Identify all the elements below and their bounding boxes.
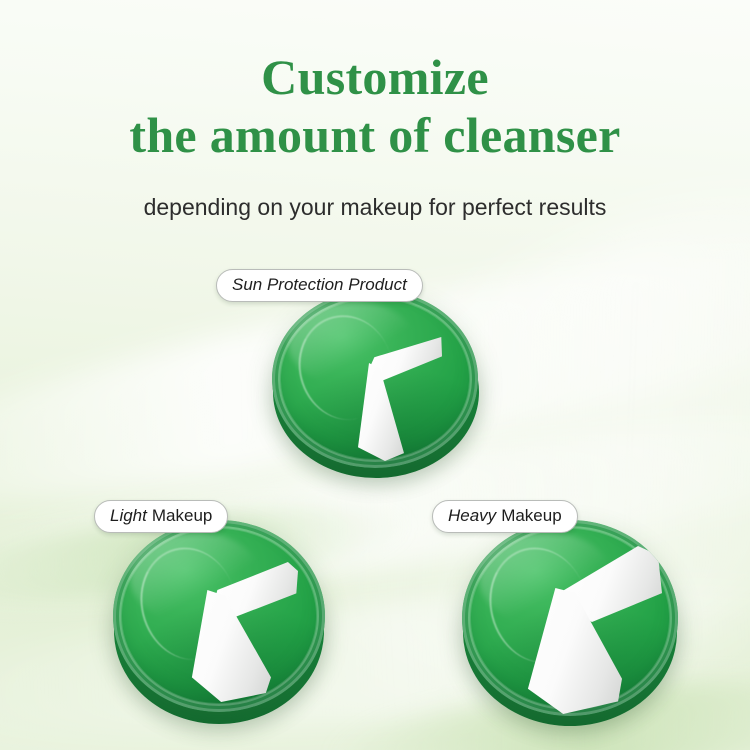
subtitle: depending on your makeup for perfect res… — [0, 192, 750, 222]
label-sun-protection-italic: Sun Protection Product — [232, 275, 407, 295]
promo-poster: Customize the amount of cleanser dependi… — [0, 0, 750, 750]
label-light-makeup-italic: Light — [110, 506, 147, 526]
headline-line-2: the amount of cleanser — [0, 106, 750, 164]
label-sun-protection: Sun Protection Product — [216, 269, 423, 302]
jar-heavy-makeup — [462, 520, 678, 716]
label-heavy-makeup-regular: Makeup — [501, 506, 561, 526]
label-light-makeup-regular: Makeup — [152, 506, 212, 526]
headline-line-1: Customize — [0, 48, 750, 106]
jar-group-light-makeup — [111, 518, 329, 750]
headline-block: Customize the amount of cleanser — [0, 48, 750, 164]
jar-sun-protection — [272, 290, 478, 468]
jar-group-sun-protection — [270, 288, 482, 478]
label-heavy-makeup: Heavy Makeup — [432, 500, 578, 533]
label-light-makeup: Light Makeup — [94, 500, 228, 533]
jar-light-makeup — [113, 520, 325, 712]
jar-group-heavy-makeup — [460, 518, 682, 750]
label-heavy-makeup-italic: Heavy — [448, 506, 496, 526]
